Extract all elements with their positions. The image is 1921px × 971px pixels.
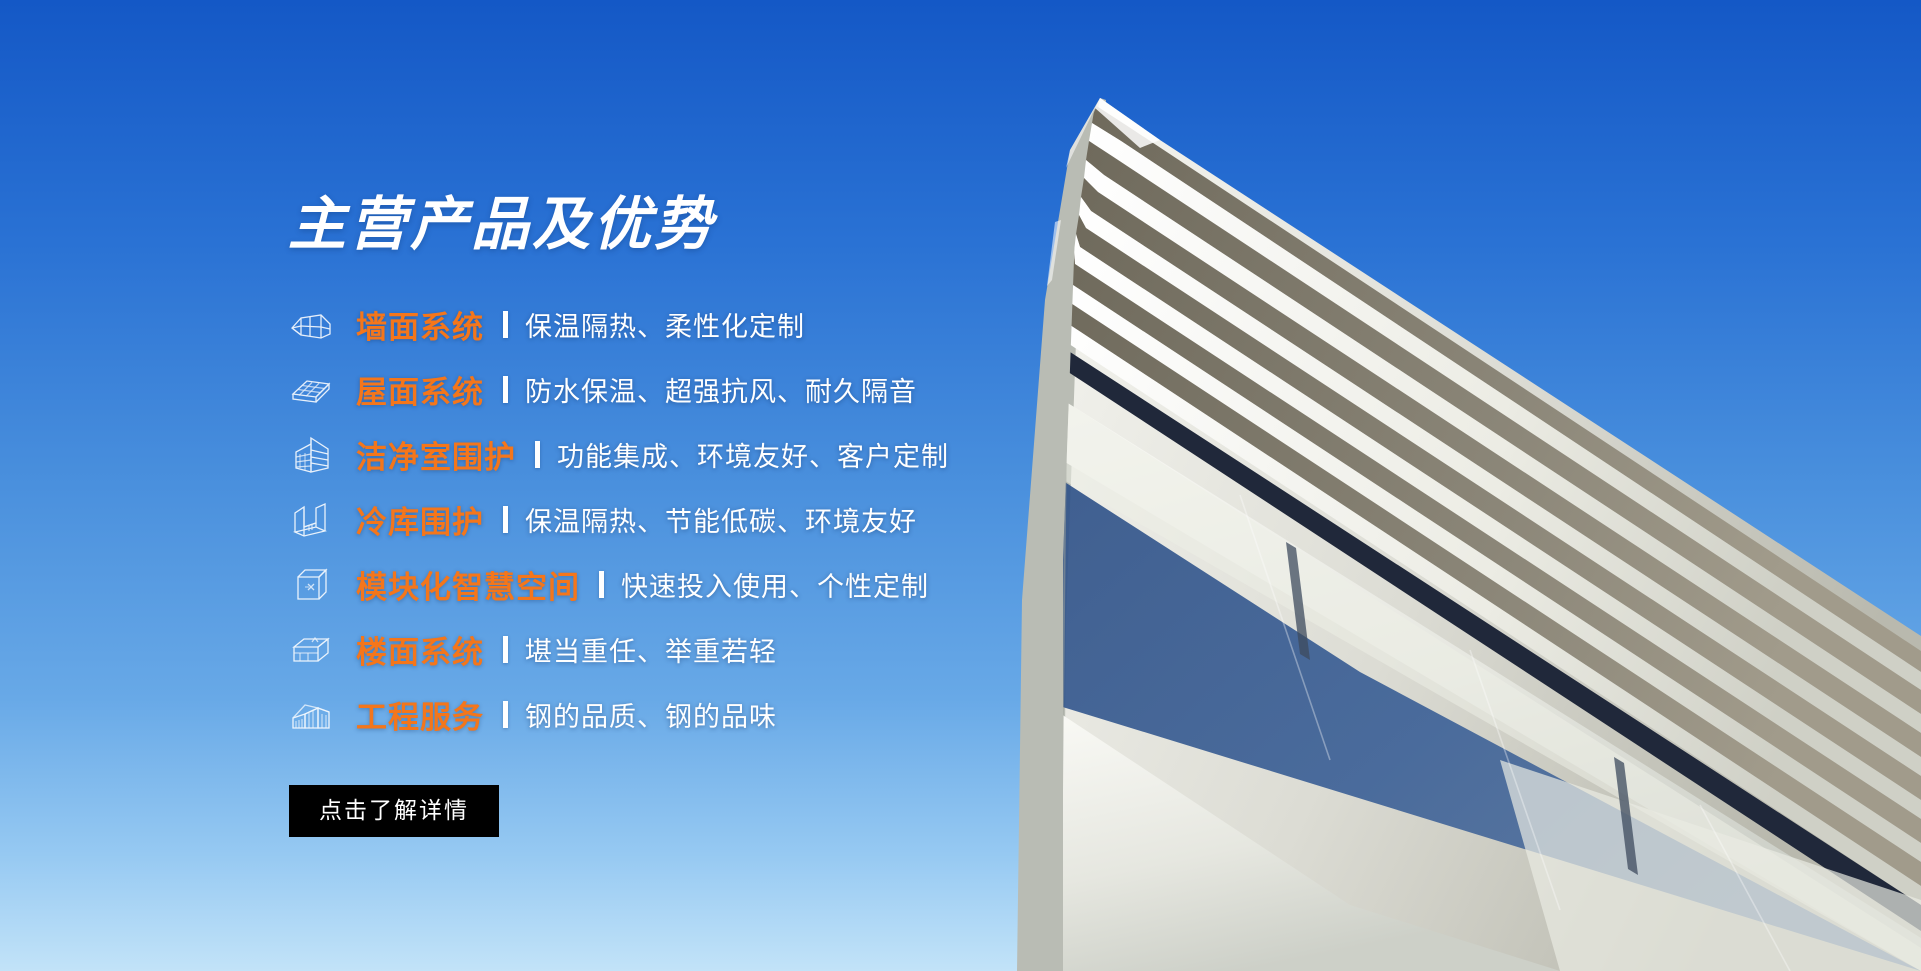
cleanroom-building-wireframe-icon — [288, 432, 334, 478]
product-description: 钢的品质、钢的品味 — [525, 695, 777, 734]
title-separator — [503, 376, 508, 403]
list-item[interactable]: 工程服务 钢的品质、钢的品味 — [288, 682, 1088, 747]
title-separator — [599, 571, 604, 598]
list-item[interactable]: 模块化智慧空间 快速投入使用、个性定制 — [288, 552, 1088, 617]
product-list: 墙面系统 保温隔热、柔性化定制 屋面系统 — [288, 292, 1088, 747]
product-description: 快速投入使用、个性定制 — [621, 565, 929, 604]
product-title: 冷库围护 — [356, 497, 484, 542]
product-title: 工程服务 — [356, 692, 484, 737]
title-separator — [503, 636, 508, 663]
page-title: 主营产品及优势 — [288, 196, 1088, 254]
product-advantages-banner: 主营产品及优势 墙面系统 — [0, 0, 1921, 971]
title-separator — [503, 506, 508, 533]
content-panel: 主营产品及优势 墙面系统 — [288, 196, 1088, 837]
product-title: 洁净室围护 — [356, 432, 516, 477]
title-separator — [503, 701, 508, 728]
product-description: 功能集成、环境友好、客户定制 — [557, 435, 949, 474]
cold-storage-wireframe-icon — [288, 497, 334, 543]
product-description: 堪当重任、举重若轻 — [525, 630, 777, 669]
list-item[interactable]: 楼面系统 堪当重任、举重若轻 — [288, 617, 1088, 682]
product-title: 楼面系统 — [356, 627, 484, 672]
title-separator — [503, 311, 508, 338]
list-item[interactable]: 冷库围护 保温隔热、节能低碳、环境友好 — [288, 487, 1088, 552]
product-title: 屋面系统 — [356, 367, 484, 412]
modular-cube-wireframe-icon — [288, 562, 334, 608]
industrial-buildings-wireframe-icon — [288, 692, 334, 738]
learn-more-button[interactable]: 点击了解详情 — [289, 785, 499, 837]
wall-panel-wireframe-icon — [288, 302, 334, 348]
product-description: 保温隔热、柔性化定制 — [525, 305, 805, 344]
list-item[interactable]: 洁净室围护 功能集成、环境友好、客户定制 — [288, 422, 1088, 487]
product-title: 模块化智慧空间 — [356, 562, 580, 607]
floor-deck-box-wireframe-icon — [288, 627, 334, 673]
roof-panel-wireframe-icon — [288, 367, 334, 413]
title-separator — [535, 441, 540, 468]
list-item[interactable]: 屋面系统 防水保温、超强抗风、耐久隔音 — [288, 357, 1088, 422]
product-description: 防水保温、超强抗风、耐久隔音 — [525, 370, 917, 409]
product-description: 保温隔热、节能低碳、环境友好 — [525, 500, 917, 539]
list-item[interactable]: 墙面系统 保温隔热、柔性化定制 — [288, 292, 1088, 357]
product-title: 墙面系统 — [356, 302, 484, 347]
